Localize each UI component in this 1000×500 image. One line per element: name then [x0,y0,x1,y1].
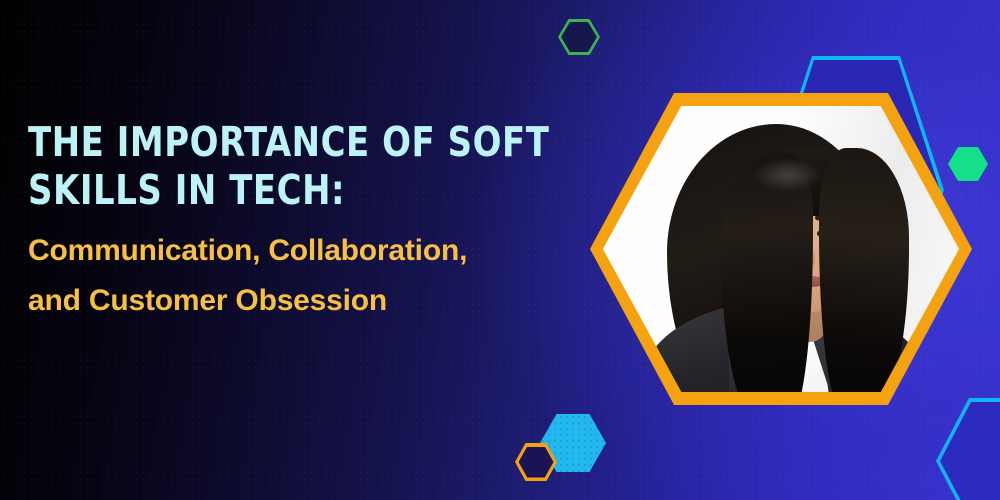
headline-line-2: SKILLS IN TECH: [28,166,540,214]
subheadline-line-2: and Customer Obsession [28,276,584,326]
promo-banner: THE IMPORTANCE OF SOFT SKILLS IN TECH: C… [0,0,1000,500]
banner-text-block: THE IMPORTANCE OF SOFT SKILLS IN TECH: C… [28,118,584,326]
portrait-hexagon-frame [590,93,972,405]
headline-line-1: THE IMPORTANCE OF SOFT [28,118,540,166]
subheadline-line-1: Communication, Collaboration, [28,226,584,276]
